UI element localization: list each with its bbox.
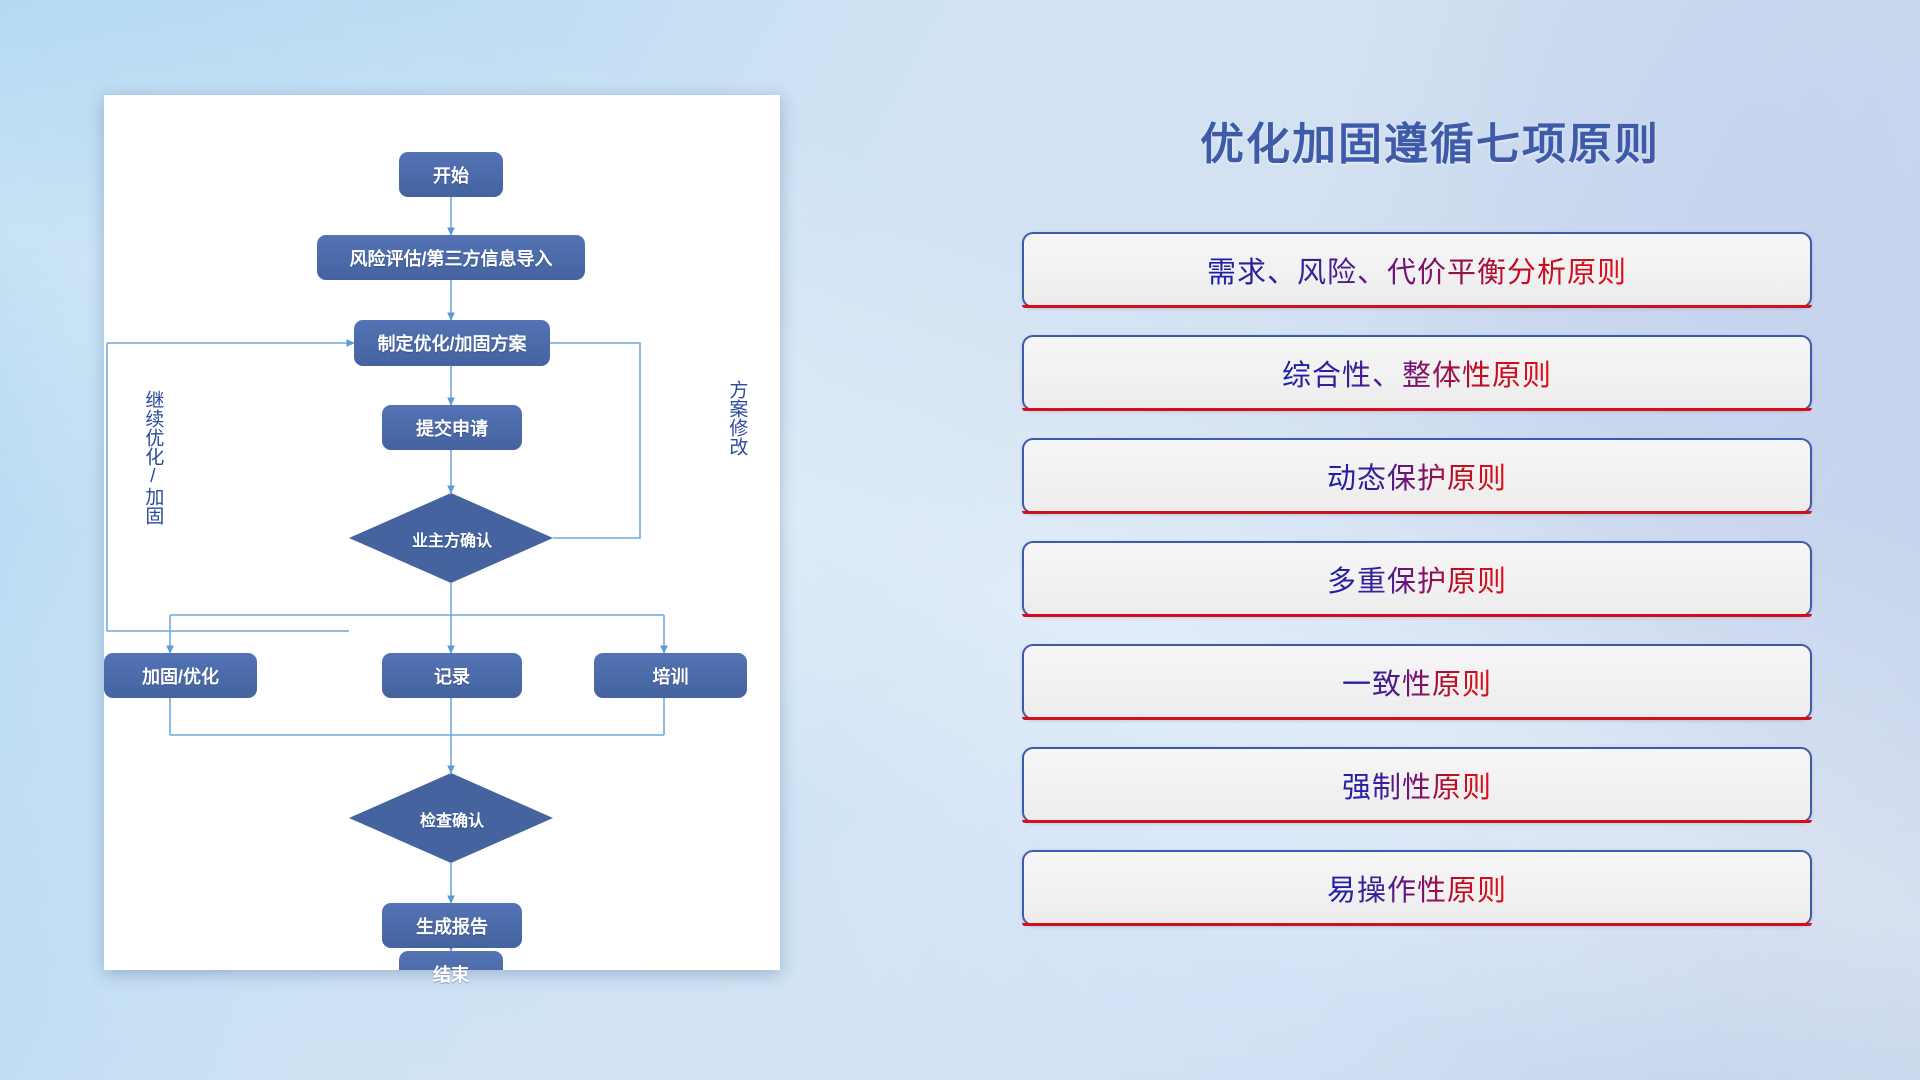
principle-card[interactable]: 动态保护原则 — [1022, 438, 1812, 514]
principle-card[interactable]: 综合性、整体性原则 — [1022, 335, 1812, 411]
principle-label: 需求、风险、代价平衡分析原则 — [1207, 249, 1627, 291]
principle-label: 易操作性原则 — [1327, 867, 1507, 909]
principle-card[interactable]: 多重保护原则 — [1022, 541, 1812, 617]
principle-card[interactable]: 需求、风险、代价平衡分析原则 — [1022, 232, 1812, 308]
flowchart-diagram — [104, 95, 780, 970]
flow-edge-label-continue-optimize: 继续优化/加固 — [143, 390, 162, 550]
principle-label: 多重保护原则 — [1327, 558, 1507, 600]
principle-label: 综合性、整体性原则 — [1282, 352, 1552, 394]
principle-label: 动态保护原则 — [1327, 455, 1507, 497]
flow-edge-label-plan-revision: 方案修改 — [727, 380, 746, 500]
principle-card[interactable]: 易操作性原则 — [1022, 850, 1812, 926]
principle-label: 一致性原则 — [1342, 661, 1492, 703]
principle-label: 强制性原则 — [1342, 764, 1492, 806]
principles-title: 优化加固遵循七项原则 — [1150, 108, 1710, 172]
principle-card[interactable]: 强制性原则 — [1022, 747, 1812, 823]
principles-list: 需求、风险、代价平衡分析原则 综合性、整体性原则 动态保护原则 多重保护原则 一… — [1022, 232, 1812, 953]
principle-card[interactable]: 一致性原则 — [1022, 644, 1812, 720]
